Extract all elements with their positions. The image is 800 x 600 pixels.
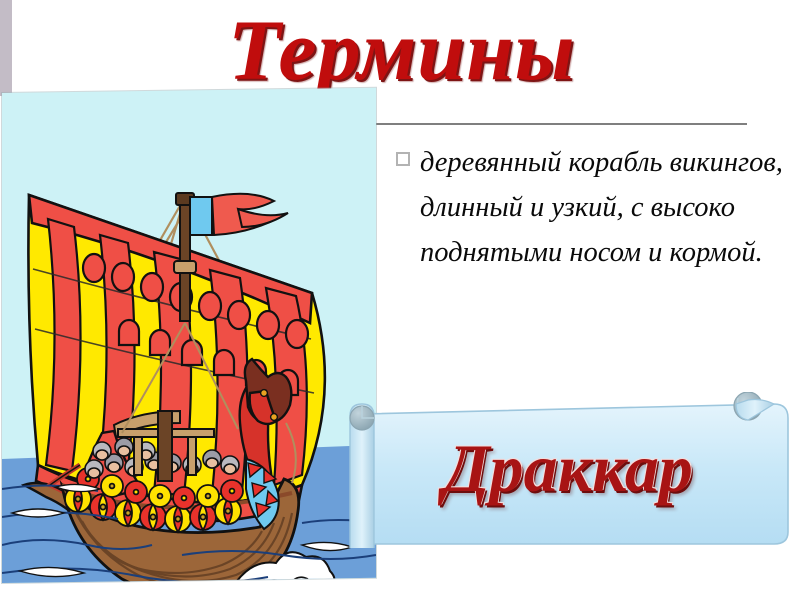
- slide-left-edge-bar: [0, 0, 12, 96]
- definition-text: деревянный корабль викингов, длинный и у…: [420, 140, 788, 275]
- slide-canvas: Термины деревянный корабль викингов, дли…: [0, 0, 800, 600]
- page-title: Термины: [228, 0, 648, 102]
- square-bullet-icon: [396, 152, 410, 166]
- definition-block: деревянный корабль викингов, длинный и у…: [396, 140, 788, 275]
- term-banner: Драккар: [344, 392, 792, 548]
- viking-longship-illustration: [2, 93, 376, 583]
- illustration-inner: [2, 93, 376, 583]
- illustration-panel: [2, 88, 376, 583]
- term-word: Драккар: [344, 428, 792, 508]
- definition-bullet-row: деревянный корабль викингов, длинный и у…: [396, 140, 788, 275]
- title-divider-rule: [373, 123, 747, 125]
